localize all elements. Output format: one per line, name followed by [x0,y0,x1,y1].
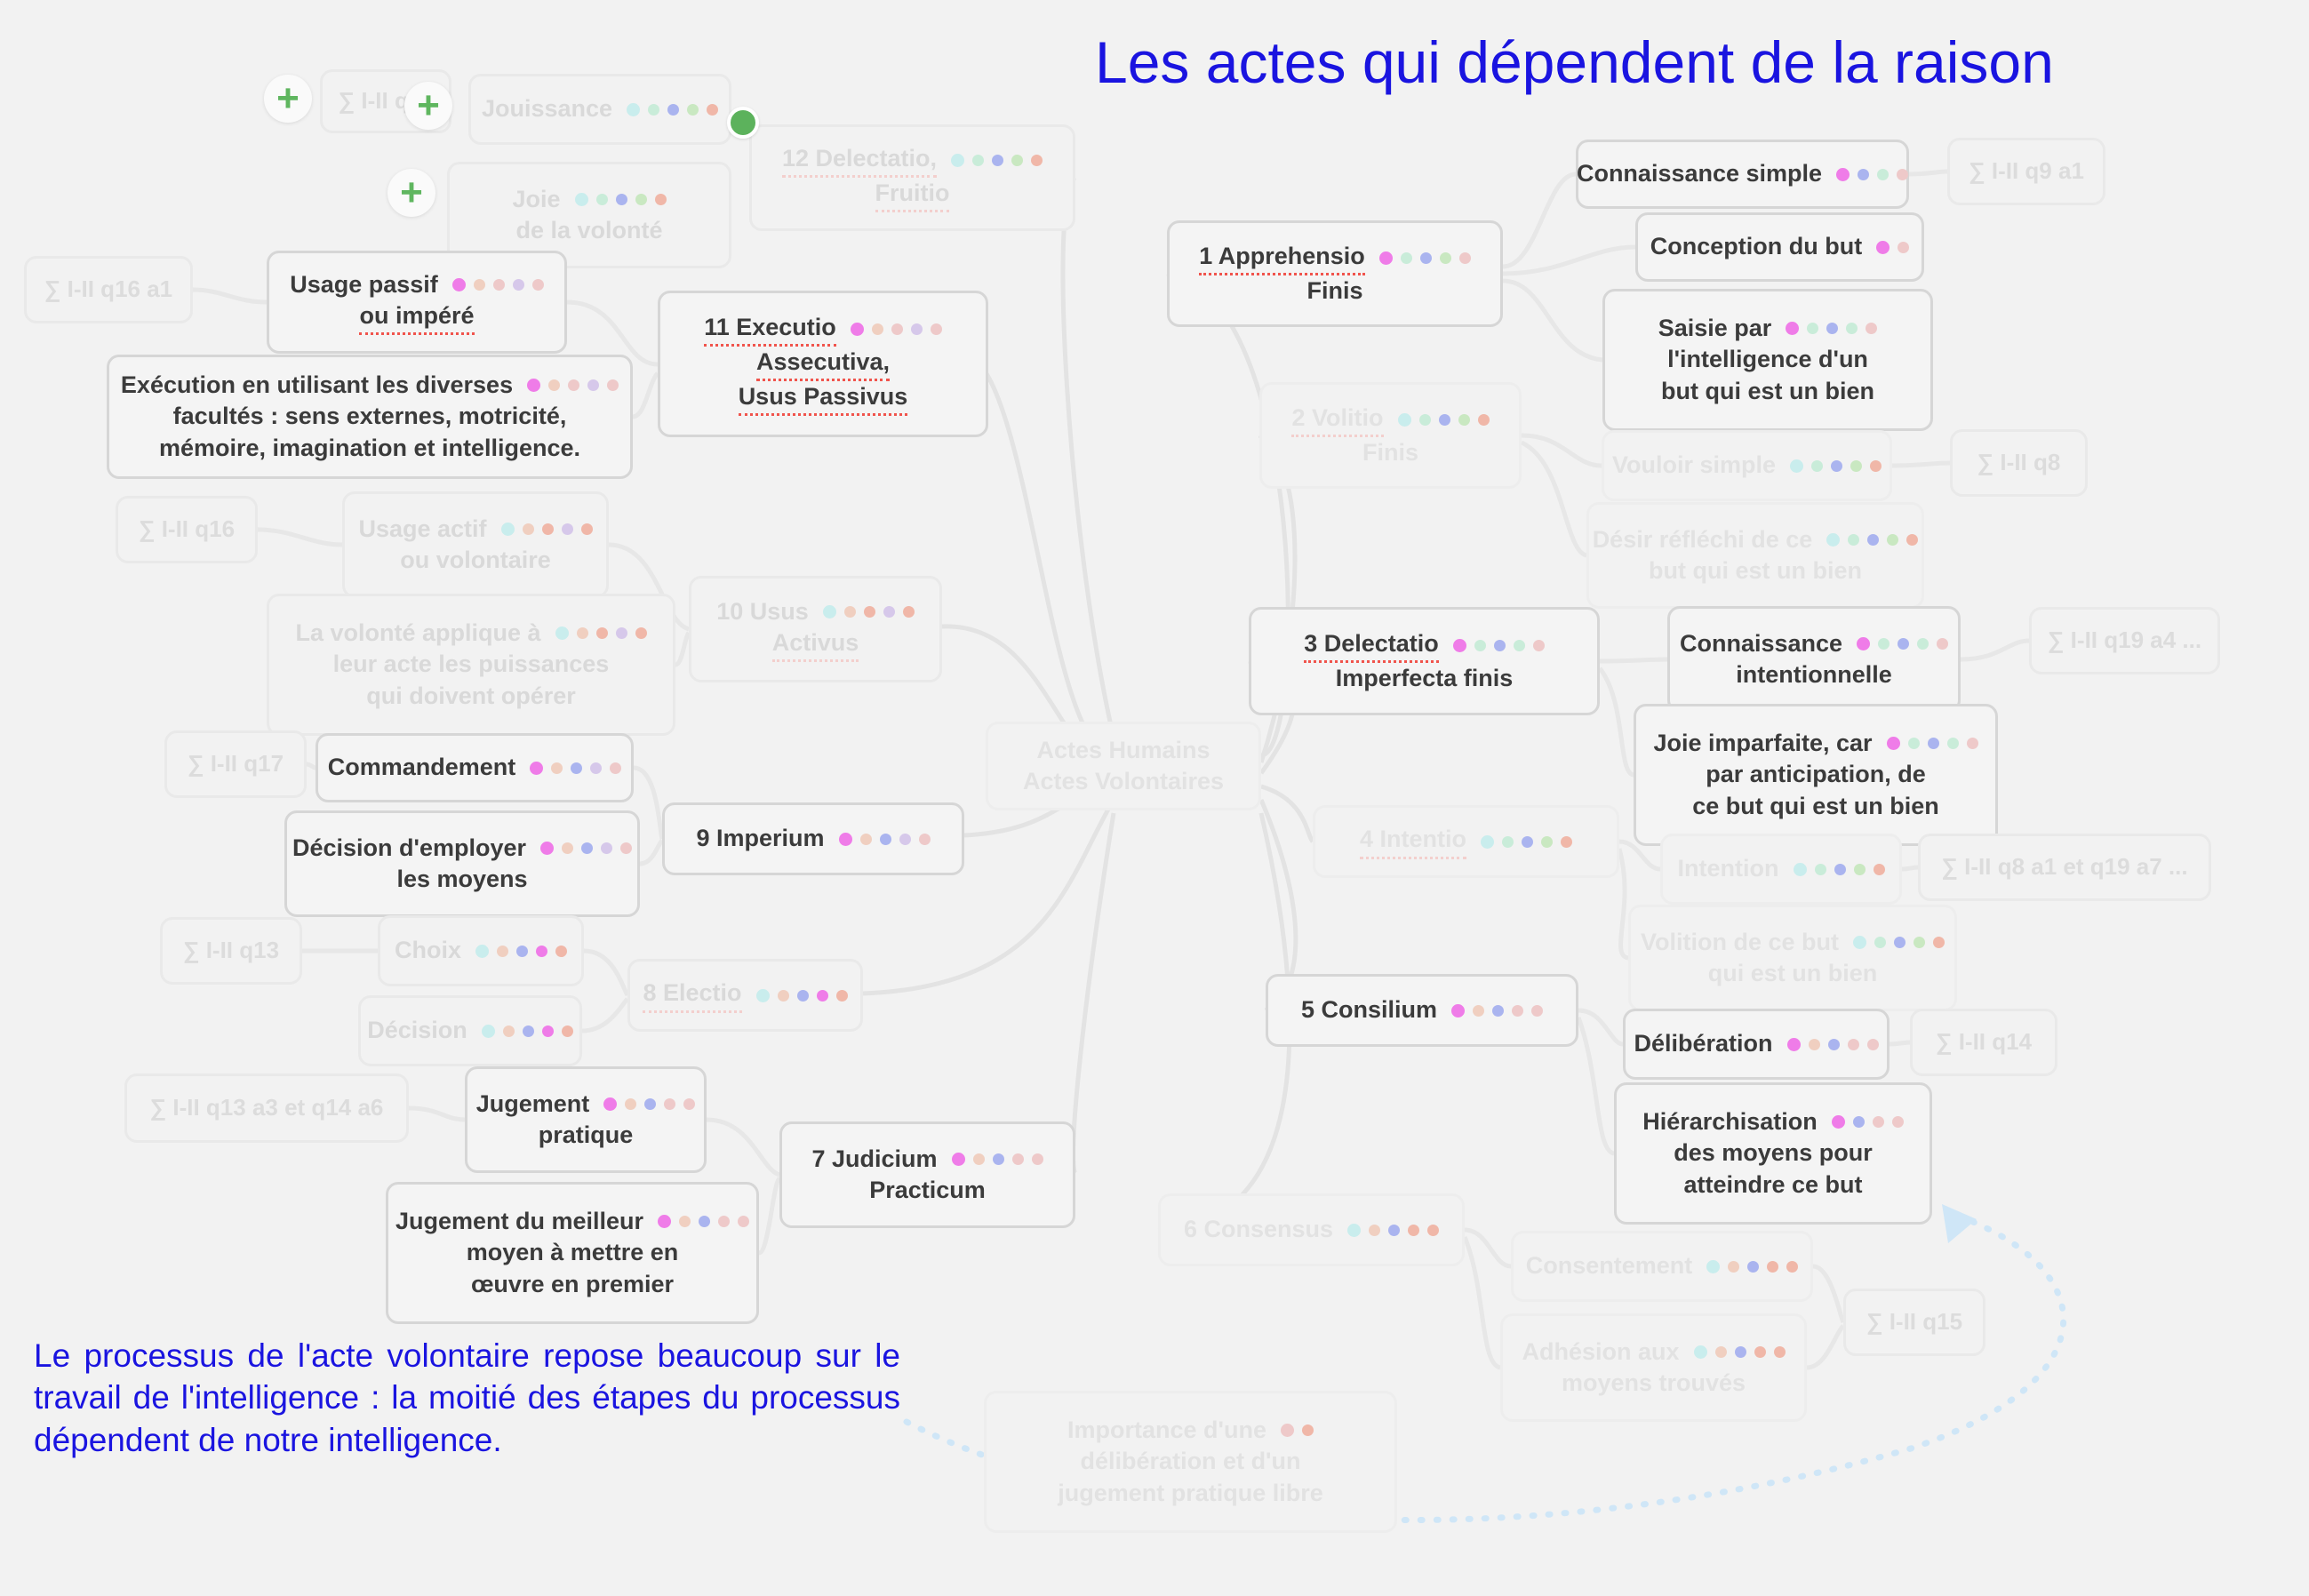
node-label-line: les moyens [396,864,527,895]
tag-dot-aqua [756,989,770,1002]
tag-dot-rose [610,762,621,774]
node-title-row: ∑ I-II q9 a1 [1969,156,2084,187]
tag-dot-periwinkle [797,990,809,1001]
node-label: Commandement [328,752,516,783]
node-label-line: qui doivent opérer [366,681,576,712]
tag-dot-magenta [839,833,852,846]
tag-dots[interactable] [1887,737,1978,750]
tag-dot-periwinkle [1735,1346,1746,1358]
tag-dot-salmon [1786,1261,1798,1273]
node-label: Jouissance [482,93,612,124]
node-execution_fac[interactable]: Exécution en utilisant les diversesfacul… [107,355,633,479]
node-consensus6[interactable]: 6 Consensus [1158,1193,1465,1266]
tag-dots[interactable] [1694,1345,1786,1359]
node-title-row: Commandement [328,752,622,783]
tag-dot-magenta [658,1215,671,1228]
tag-dot-periwinkle [571,762,582,774]
tag-dot-lavender [587,379,599,391]
node-label: 3 Delectatio [1304,628,1439,663]
tag-dot-aqua [823,605,836,618]
tag-dot-periwinkle [523,1025,534,1037]
tag-dot-green [1011,155,1023,166]
tag-dot-rose [607,379,619,391]
node-choix[interactable]: Choix [378,915,584,986]
tag-dot-peach [577,627,588,639]
node-label-line: délibération et d'un [1081,1446,1301,1477]
node-title-row: Saisie par [1658,313,1878,344]
tag-dot-magenta [603,1097,617,1111]
tag-dot-rose [664,1098,675,1110]
node-label: La volonté applique à [295,618,540,649]
node-title-row: Joie imparfaite, car [1653,728,1977,759]
node-volonte_applique[interactable]: La volonté applique àleur acte les puiss… [267,594,675,736]
tag-dot-magenta [1832,1115,1845,1129]
node-intention[interactable]: Intention [1660,834,1902,905]
tag-dot-salmon [635,627,647,639]
node-label: ∑ I-II q9 a1 [1969,156,2084,187]
tag-dot-magenta [1887,737,1900,750]
tag-dot-periwinkle [667,104,679,116]
tag-dot-magenta [1876,241,1890,254]
tag-dots[interactable] [1857,637,1948,650]
tag-dot-peach [1369,1225,1380,1236]
tag-dot-mint [1815,864,1826,875]
tag-dot-rose [1937,638,1948,650]
tag-dot-magenta [1786,322,1799,335]
tag-dot-rose [493,279,505,291]
tag-dots[interactable] [823,605,915,618]
tag-dot-rose [568,379,579,391]
tag-dots[interactable] [603,1097,695,1111]
node-ref_q9a1[interactable]: ∑ I-II q9 a1 [1947,138,2105,205]
tag-dot-mint [1874,937,1886,948]
tag-dot-peach [474,279,485,291]
tag-dot-periwinkle [1828,1039,1840,1050]
node-title-row: Jugement du meilleur [395,1206,749,1237]
add-node-button-2[interactable]: + [404,82,452,130]
node-label: Décision [367,1015,467,1046]
tag-dot-peach [523,523,534,535]
node-label: Usage actif [358,514,486,545]
tag-dot-rose [1459,252,1471,264]
node-label-line: but qui est un bien [1649,555,1862,587]
tag-dot-periwinkle [1494,640,1506,651]
node-label: Exécution en utilisant les diverses [121,370,513,401]
node-label: ∑ I-II q16 [139,515,235,545]
node-label-line: Finis [1306,275,1362,307]
tag-dot-green [1458,414,1470,426]
node-label: Connaissance simple [1577,158,1822,189]
node-label-line: ou volontaire [400,545,551,576]
tag-dots[interactable] [851,323,942,336]
node-title-row: 2 Volitio [1291,403,1489,437]
tag-dots[interactable] [575,193,667,206]
node-label: Désir réfléchi de ce [1593,524,1813,555]
node-apprehensio1[interactable]: 1 ApprehensioFinis [1167,220,1503,327]
add-node-button-1[interactable]: + [264,75,312,123]
tag-dots[interactable] [1786,322,1877,335]
tag-dot-lavender [562,523,573,535]
tag-dot-salmon [581,523,593,535]
node-title-row: 4 Intentio [1360,824,1572,858]
node-label-line: facultés : sens externes, motricité, [173,401,567,432]
node-title-row: ∑ I-II q15 [1866,1307,1962,1337]
tag-dot-mint [1419,414,1431,426]
status-dot-green[interactable] [727,107,759,139]
tag-dot-periwinkle [581,842,593,854]
tag-dot-green [635,194,647,205]
tag-dot-magenta [452,278,466,291]
node-label: 10 Usus [716,596,809,627]
tag-dots[interactable] [951,154,1043,167]
node-title-row: Usage actif [358,514,592,545]
node-title-row: Connaissance [1680,628,1948,659]
node-title-row: 1 Apprehensio [1199,241,1471,275]
node-label-line: Activus [772,627,859,662]
node-ref_q19a4[interactable]: ∑ I-II q19 a4 ... [2029,607,2220,674]
node-title-row: Vouloir simple [1612,450,1882,481]
node-label-line: Usus Passivus [739,381,908,416]
tag-dots[interactable] [627,103,718,116]
node-connaissance_s[interactable]: Connaissance simple [1576,140,1909,209]
tag-dots[interactable] [756,989,848,1002]
tag-dot-lavender [616,627,627,639]
node-delectatio12[interactable]: 12 Delectatio,Fruitio [749,124,1075,231]
node-decision[interactable]: Décision [358,995,582,1066]
node-electio8[interactable]: 8 Electio [627,959,863,1032]
tag-dot-periwinkle [1492,1005,1504,1017]
tag-dot-rose [1533,640,1545,651]
node-title-row: Décision [367,1015,573,1046]
node-deliberation[interactable]: Délibération [1623,1009,1890,1080]
tag-dots[interactable] [1826,533,1918,547]
tag-dots[interactable] [1794,863,1885,876]
tag-dots[interactable] [452,278,544,291]
node-title-row: 5 Consilium [1301,994,1543,1025]
node-label: 9 Imperium [696,823,824,854]
tag-dot-salmon [555,946,567,957]
tag-dot-mint [1811,460,1823,472]
tag-dot-magenta [1379,251,1393,265]
node-title-row: ∑ I-II q8 a1 et q19 a7 ... [1941,852,2187,882]
tag-dot-salmon [1874,864,1885,875]
node-consentement[interactable]: Consentement [1511,1231,1813,1302]
tag-dot-salmon [1767,1261,1778,1273]
tag-dot-rose [1967,738,1978,749]
node-title-row: 8 Electio [643,978,847,1012]
node-usage_actif[interactable]: Usage actifou volontaire [342,491,609,598]
tag-dots[interactable] [1853,936,1945,949]
tag-dot-periwinkle [699,1216,710,1227]
node-adhesion[interactable]: Adhésion auxmoyens trouvés [1500,1313,1807,1422]
node-label-line: ou impéré [359,300,474,335]
tag-dot-aqua [627,103,640,116]
node-joie_imparfaite[interactable]: Joie imparfaite, carpar anticipation, de… [1634,704,1998,846]
node-title-row: Intention [1678,853,1885,884]
node-label: 11 Executio [704,312,836,347]
tag-dot-aqua [1790,459,1803,473]
node-label-line: Imperfecta finis [1336,663,1514,694]
tag-dot-aqua [475,945,489,958]
node-jugement_meill[interactable]: Jugement du meilleurmoyen à mettre enœuv… [386,1182,759,1324]
node-title-row: Usage passif [290,269,544,300]
tag-dot-magenta [1857,637,1870,650]
node-label-line: jugement pratique libre [1058,1478,1323,1509]
tag-dots[interactable] [530,762,621,775]
tag-dots[interactable] [475,945,567,958]
tag-dot-salmon [836,990,848,1001]
tag-dot-salmon [864,606,875,618]
tag-dot-periwinkle [1439,414,1450,426]
node-label: Adhésion aux [1522,1337,1679,1368]
tag-dot-rose [620,842,632,854]
tag-dot-peach [562,842,573,854]
node-ref_q13[interactable]: ∑ I-II q13 [160,917,302,985]
node-saisie_par[interactable]: Saisie parl'intelligence d'unbut qui est… [1602,289,1933,431]
tag-dot-peach [1809,1039,1820,1050]
mindmap-canvas: Actes Humains Actes Volontaires ∑ I-II q… [0,0,2309,1596]
node-ref_q17[interactable]: ∑ I-II q17 [164,730,307,798]
node-ref_q16a1[interactable]: ∑ I-II q16 a1 [24,256,193,323]
tag-dot-mint [1401,252,1412,264]
tag-dot-periwinkle [1834,864,1846,875]
tag-dots[interactable] [540,842,632,855]
tag-dot-salmon [1427,1225,1439,1236]
node-label-line: œuvre en premier [471,1269,674,1300]
node-jouissance[interactable]: Jouissance [468,74,731,145]
tag-dots[interactable] [482,1025,573,1038]
tag-dot-green [1440,252,1451,264]
node-title-row: ∑ I-II q8 [1977,448,2061,478]
tag-dot-salmon [1906,534,1918,546]
tag-dots[interactable] [1398,413,1490,427]
tag-dot-lavender [883,606,895,618]
node-ref_q13a3[interactable]: ∑ I-II q13 a3 et q14 a6 [124,1073,409,1143]
node-label: Choix [395,935,461,966]
node-label-line: par anticipation, de [1706,759,1926,790]
node-label: Connaissance [1680,628,1842,659]
node-label: ∑ I-II q19 a4 ... [2048,626,2201,656]
node-title-row: 12 Delectatio, [782,143,1043,178]
tag-dot-periwinkle [993,1153,1004,1165]
node-consilium5[interactable]: 5 Consilium [1266,974,1578,1047]
tag-dot-rose [1866,323,1877,334]
tag-dot-periwinkle [1867,534,1879,546]
tag-dot-periwinkle [1894,937,1906,948]
tag-dot-aqua [482,1025,495,1038]
node-label-line: Fruitio [875,178,950,212]
tag-dots[interactable] [1453,639,1545,652]
node-label-line: mémoire, imagination et intelligence. [159,433,580,464]
node-usage_passif[interactable]: Usage passifou impéré [267,251,567,354]
tag-dot-salmon [1478,414,1490,426]
tag-dot-magenta [851,323,864,336]
tag-dots[interactable] [555,626,647,640]
add-node-button-3[interactable]: + [387,169,435,217]
tag-dot-mint [1514,640,1525,651]
node-title-row: 6 Consensus [1184,1214,1439,1245]
node-title-row: ∑ I-II q19 a4 ... [2048,626,2201,656]
node-title-row: ∑ I-II q16 a1 [44,275,172,305]
node-desir_reflechi[interactable]: Désir réfléchi de cebut qui est un bien [1586,502,1924,609]
tag-dots[interactable] [1832,1115,1904,1129]
tag-dot-lavender [911,323,923,335]
tag-dot-rose [1897,169,1908,180]
page-title: Les actes qui dépendent de la raison [1095,28,2054,96]
tag-dot-periwinkle [1747,1261,1759,1273]
tag-dot-rose [1281,1424,1294,1437]
node-importance[interactable]: Importance d'unedélibération et d'unjuge… [984,1391,1397,1533]
center-line1: Actes Humains [1036,735,1210,766]
tag-dot-peach [625,1098,636,1110]
tag-dot-magenta [1453,639,1466,652]
node-ref_q16[interactable]: ∑ I-II q16 [116,496,258,563]
center-node[interactable]: Actes Humains Actes Volontaires [986,722,1261,810]
tag-dot-peach [679,1216,691,1227]
node-title-row: ∑ I-II q13 [183,936,279,966]
node-volitio2[interactable]: 2 VolitioFinis [1259,382,1522,489]
node-ref_q8a1[interactable]: ∑ I-II q8 a1 et q19 a7 ... [1918,834,2211,901]
node-title-row: Volition de ce but [1641,927,1945,958]
node-intentio4[interactable]: 4 Intentio [1313,805,1619,878]
tag-dots[interactable] [1481,835,1572,849]
node-title-row: 3 Delectatio [1304,628,1545,663]
node-delectatio3[interactable]: 3 DelectatioImperfecta finis [1249,607,1600,715]
node-label-line: de la volonté [515,215,662,246]
tag-dots[interactable] [658,1215,749,1228]
node-label: ∑ I-II q8 [1977,448,2061,478]
node-judicium7[interactable]: 7 JudiciumPracticum [779,1121,1075,1228]
footnote-text: Le processus de l'acte volontaire repose… [34,1335,900,1461]
tag-dot-rose [1512,1005,1523,1017]
tag-dots[interactable] [1281,1424,1314,1437]
tag-dots[interactable] [1836,168,1908,181]
tag-dots[interactable] [1451,1004,1543,1017]
tag-dot-rose [683,1098,695,1110]
node-label-line: Assecutiva, [756,347,890,381]
tag-dot-rose [718,1216,730,1227]
node-label: Usage passif [290,269,438,300]
node-label-line: leur acte les puissances [333,649,610,680]
tag-dot-periwinkle [1898,638,1909,650]
tag-dot-rose [1032,1153,1043,1165]
tag-dot-peach [778,990,789,1001]
node-ref_q14[interactable]: ∑ I-II q14 [1910,1009,2057,1076]
tag-dot-rose [919,834,931,845]
tag-dot-periwinkle [992,155,1003,166]
node-label: ∑ I-II q16 a1 [44,275,172,305]
tag-dot-green [1854,864,1866,875]
node-ref_q15[interactable]: ∑ I-II q15 [1843,1289,1985,1356]
node-volition_but[interactable]: Volition de ce butqui est un bien [1628,905,1957,1011]
tag-dots[interactable] [952,1153,1043,1166]
node-label-line: pratique [539,1120,634,1151]
tag-dots[interactable] [1876,241,1909,254]
node-label: ∑ I-II q15 [1866,1307,1962,1337]
node-connaissance_i[interactable]: Connaissanceintentionnelle [1667,606,1961,713]
node-label: ∑ I-II q17 [188,749,284,779]
node-imperium9[interactable]: 9 Imperium [662,802,964,875]
node-title-row: ∑ I-II q14 [1936,1027,2032,1057]
node-commandement[interactable]: Commandement [316,733,634,802]
node-title-row: Conception du but [1650,231,1909,262]
node-vouloir_simple[interactable]: Vouloir simple [1602,430,1892,501]
node-ref_q8[interactable]: ∑ I-II q8 [1950,429,2088,497]
tag-dot-periwinkle [1388,1225,1400,1236]
tag-dots[interactable] [527,379,619,392]
tag-dots[interactable] [501,523,593,536]
node-title-row: Désir réfléchi de ce [1593,524,1919,555]
tag-dots[interactable] [1790,459,1882,473]
tag-dot-periwinkle [880,834,891,845]
node-label: 1 Apprehensio [1199,241,1365,275]
node-hierarchisation[interactable]: Hiérarchisationdes moyens pouratteindre … [1614,1082,1932,1225]
tag-dot-peach [548,379,560,391]
tag-dots[interactable] [1706,1260,1798,1273]
tag-dot-magenta [952,1153,965,1166]
tag-dot-peach [844,606,856,618]
node-decision_emp[interactable]: Décision d'employerles moyens [284,810,640,917]
tag-dot-periwinkle [1420,252,1432,264]
tag-dot-salmon [1933,937,1945,948]
tag-dot-lavender [513,279,524,291]
tag-dot-magenta [530,762,543,775]
tag-dot-magenta [527,379,540,392]
tag-dots[interactable] [1787,1038,1879,1051]
tag-dot-peach [497,946,508,957]
node-executio11[interactable]: 11 ExecutioAssecutiva,Usus Passivus [658,291,988,437]
node-label: ∑ I-II q13 [183,936,279,966]
tag-dot-periwinkle [644,1098,656,1110]
tag-dot-mint [596,194,608,205]
tag-dot-mint [972,155,984,166]
node-label: Décision d'employer [292,833,526,864]
node-usus10[interactable]: 10 UsusActivus [689,576,942,682]
tag-dot-periwinkle [1831,460,1842,472]
tag-dot-rose [532,279,544,291]
node-jugement_prat[interactable]: Jugementpratique [465,1066,707,1173]
node-conception_but[interactable]: Conception du but [1635,212,1924,282]
tag-dot-rose [1898,242,1909,253]
node-label: 2 Volitio [1291,403,1383,437]
node-label: 6 Consensus [1184,1214,1333,1245]
tag-dot-peach [872,323,883,335]
tag-dot-magenta [1836,168,1850,181]
node-title-row: Exécution en utilisant les diverses [121,370,619,401]
node-label-line: qui est un bien [1708,958,1878,989]
tag-dot-peach [973,1153,985,1165]
node-label: Joie [512,184,560,215]
tag-dot-periwinkle [616,194,627,205]
node-label: Délibération [1634,1028,1772,1059]
tag-dots[interactable] [1379,251,1471,265]
tag-dots[interactable] [839,833,931,846]
tag-dot-mint [1947,738,1959,749]
node-label: ∑ I-II q13 a3 et q14 a6 [150,1093,384,1123]
node-label: 12 Delectatio, [782,143,937,178]
tag-dot-salmon [1754,1346,1766,1358]
tag-dot-salmon [1408,1225,1419,1236]
tag-dots[interactable] [1347,1224,1439,1237]
node-title-row: Hiérarchisation [1642,1106,1904,1137]
tag-dot-rose [1848,1039,1859,1050]
tag-dot-salmon [542,523,554,535]
node-label: 7 Judicium [811,1144,937,1175]
node-label-line: Finis [1362,437,1418,468]
node-title-row: Jugement [476,1089,696,1120]
node-label-line: ce but qui est un bien [1692,791,1939,822]
tag-dot-mint [1502,836,1514,848]
